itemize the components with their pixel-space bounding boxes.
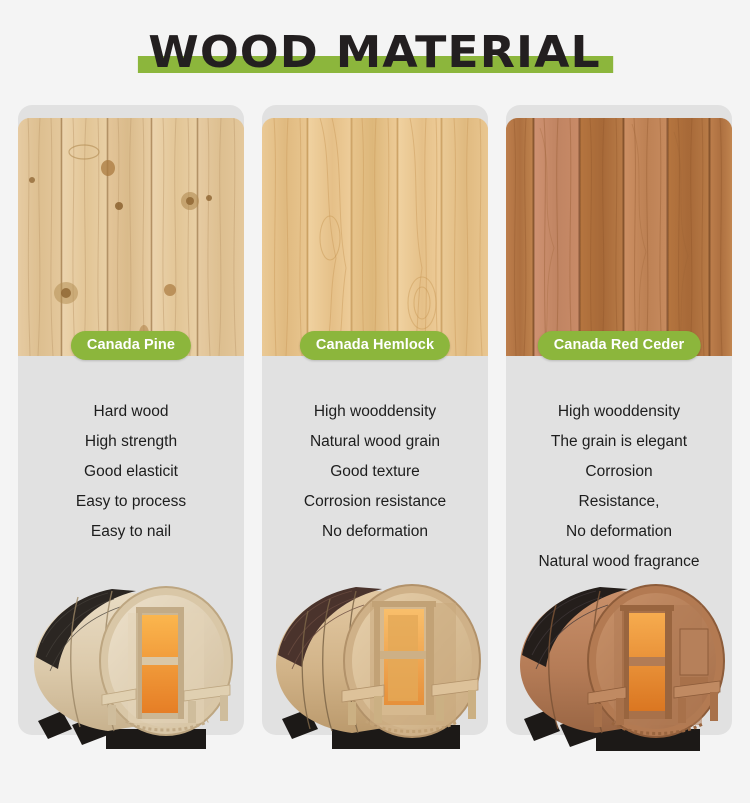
badge-canada-hemlock[interactable]: Canada Hemlock	[300, 331, 450, 360]
wood-material-card-list: Canada Pine Hard wood High strength Good…	[0, 105, 750, 803]
feature-item: Good elasticit	[18, 457, 244, 487]
barrel-sauna-image	[260, 573, 492, 753]
wood-material-card[interactable]: Canada Red Ceder High wooddensity The gr…	[506, 105, 732, 745]
feature-item: No deformation	[506, 517, 732, 547]
hemlock-texture-image	[262, 118, 488, 356]
wood-swatch-hemlock	[262, 118, 488, 356]
feature-item: Easy to nail	[18, 517, 244, 547]
red-cedar-texture-image	[506, 118, 732, 356]
feature-list: High wooddensity The grain is elegant Co…	[506, 397, 732, 577]
barrel-sauna-hemlock	[260, 573, 492, 753]
feature-item: Resistance,	[506, 487, 732, 517]
barrel-sauna-image	[16, 573, 248, 753]
feature-item: Corrosion	[506, 457, 732, 487]
feature-item: Hard wood	[18, 397, 244, 427]
feature-item: Corrosion resistance	[262, 487, 488, 517]
feature-item: The grain is elegant	[506, 427, 732, 457]
wood-material-card[interactable]: Canada Pine Hard wood High strength Good…	[18, 105, 244, 745]
barrel-sauna-image	[504, 573, 736, 753]
feature-list: Hard wood High strength Good elasticit E…	[18, 397, 244, 547]
feature-item: High wooddensity	[262, 397, 488, 427]
barrel-sauna-pine	[16, 573, 248, 753]
pine-texture-image	[18, 118, 244, 356]
page-header: WOOD MATERIAL	[0, 0, 750, 105]
feature-item: High strength	[18, 427, 244, 457]
feature-item: High wooddensity	[506, 397, 732, 427]
wood-swatch-red-cedar	[506, 118, 732, 356]
feature-item: Good texture	[262, 457, 488, 487]
barrel-sauna-red-cedar	[504, 573, 736, 753]
feature-item: No deformation	[262, 517, 488, 547]
page-title-text: WOOD MATERIAL	[149, 27, 601, 78]
badge-canada-pine[interactable]: Canada Pine	[71, 331, 191, 360]
feature-list: High wooddensity Natural wood grain Good…	[262, 397, 488, 547]
feature-item: Natural wood grain	[262, 427, 488, 457]
page-title: WOOD MATERIAL	[143, 31, 608, 75]
wood-swatch-pine	[18, 118, 244, 356]
badge-canada-red-ceder[interactable]: Canada Red Ceder	[538, 331, 701, 360]
feature-item: Easy to process	[18, 487, 244, 517]
wood-material-card[interactable]: Canada Hemlock High wooddensity Natural …	[262, 105, 488, 745]
